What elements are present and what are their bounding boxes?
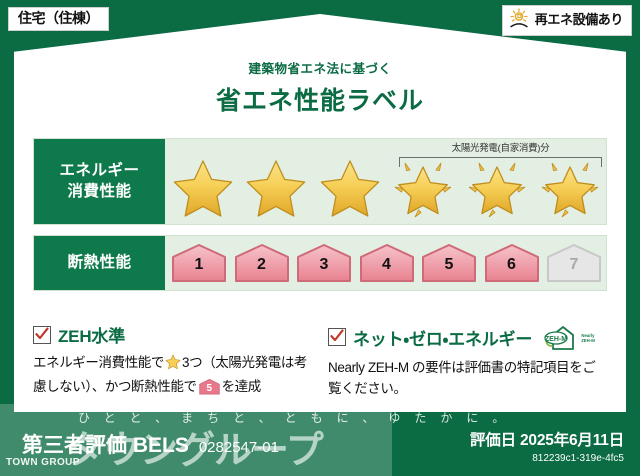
label-main-title: 省エネ性能ラベル <box>0 81 640 117</box>
star-rating-strip <box>171 157 602 221</box>
insulation-badge-number: 5 <box>199 381 220 396</box>
svg-text:ZEH-M: ZEH-M <box>545 336 567 343</box>
star-icon <box>171 157 235 221</box>
zeh-standard-note: ZEH水準 エネルギー消費性能で3つ（太陽光発電は考慮しない）、かつ断熱性能で5… <box>33 322 312 399</box>
bels-label: 第三者評価 BELS <box>22 429 189 459</box>
insulation-level-label: 1 <box>171 256 227 274</box>
energy-performance-label: 住宅（住棟） 再エネ設備あり 建築物省エネ法に基づく <box>0 0 640 476</box>
net-zero-energy-title: ネット・ゼロ・エネルギー <box>353 325 532 350</box>
insulation-level-5: 5 <box>421 243 477 283</box>
insulation-level-7: 7 <box>546 243 602 283</box>
zeh-body-part-c: を達成 <box>222 379 261 394</box>
zeh-body-part-star: 3つ（太陽光発電 <box>182 355 281 370</box>
insulation-level-label: 4 <box>359 256 415 274</box>
ratings-container: エネルギー 消費性能 太陽光発電(自家消費)分 <box>33 138 607 301</box>
insulation-levels-area: 1 2 3 4 5 <box>165 236 606 290</box>
notes-container: ZEH水準 エネルギー消費性能で3つ（太陽光発電は考慮しない）、かつ断熱性能で5… <box>33 322 607 399</box>
insulation-level-label: 5 <box>421 256 477 274</box>
energy-label-line1: エネルギー <box>59 161 139 182</box>
insulation-level-label: 6 <box>484 256 540 274</box>
zeh-standard-body: エネルギー消費性能で3つ（太陽光発電は考慮しない）、かつ断熱性能で5を達成 <box>33 353 312 397</box>
zeh-body-part-a: エネルギー消費性能で <box>33 355 164 370</box>
label-subtitle: 建築物省エネ法に基づく <box>0 58 640 77</box>
energy-label-line2: 消費性能 <box>67 182 131 203</box>
net-zero-energy-heading: ネット・ゼロ・エネルギー ZEH-M Nearly ZEH-M <box>328 322 607 352</box>
insulation-performance-row: 断熱性能 1 2 3 <box>33 235 607 291</box>
evaluation-info-block: 評価日 2025年6月11日 812239c1-319e-4fc5 <box>470 428 624 464</box>
evaluation-date: 評価日 2025年6月11日 <box>470 428 624 450</box>
dwelling-type-tag: 住宅（住棟） <box>8 7 109 31</box>
label-title-block: 建築物省エネ法に基づく 省エネ性能ラベル <box>0 58 640 117</box>
energy-performance-label-box: エネルギー 消費性能 <box>34 139 165 224</box>
checkmark-icon <box>328 328 346 346</box>
insulation-performance-label-box: 断熱性能 <box>34 236 165 290</box>
bels-number: 0282547-01 <box>199 439 279 456</box>
renewable-equipment-badge: 再エネ設備あり <box>502 5 632 36</box>
evaluation-id: 812239c1-319e-4fc5 <box>470 453 624 464</box>
net-zero-energy-note: ネット・ゼロ・エネルギー ZEH-M Nearly ZEH-M Nearly Z… <box>328 322 607 399</box>
bels-certification-block: 第三者評価 BELS 0282547-01 <box>22 429 279 459</box>
zeh-standard-title: ZEH水準 <box>58 322 125 347</box>
insulation-level-4: 4 <box>359 243 415 283</box>
sun-icon <box>508 8 530 33</box>
star-icon-solar <box>465 157 529 221</box>
insulation-level-3: 3 <box>296 243 352 283</box>
insulation-level-label: 7 <box>546 256 602 274</box>
star-icon-solar <box>391 157 455 221</box>
energy-stars-area: 太陽光発電(自家消費)分 <box>165 139 606 224</box>
insulation-level-label: 2 <box>234 256 290 274</box>
svg-text:ZEH-M: ZEH-M <box>581 338 595 343</box>
star-icon <box>318 157 382 221</box>
renewable-badge-label: 再エネ設備あり <box>535 13 623 27</box>
net-zero-energy-body: Nearly ZEH-M の要件は評価書の特記項目をご覧ください。 <box>328 358 607 399</box>
insulation-level-strip: 1 2 3 4 5 <box>171 243 602 283</box>
insulation-level-6: 6 <box>484 243 540 283</box>
star-icon-solar <box>538 157 602 221</box>
insulation-level-2: 2 <box>234 243 290 283</box>
insulation-badge-inline: 5 <box>199 378 220 395</box>
label-footer: 第三者評価 BELS 0282547-01 評価日 2025年6月11日 812… <box>0 412 640 476</box>
zeh-standard-heading: ZEH水準 <box>33 322 312 347</box>
zeh-m-logo: ZEH-M Nearly ZEH-M <box>543 322 601 352</box>
energy-performance-row: エネルギー 消費性能 太陽光発電(自家消費)分 <box>33 138 607 225</box>
star-icon <box>244 157 308 221</box>
solar-bracket-caption: 太陽光発電(自家消費)分 <box>399 144 602 154</box>
insulation-label-text: 断熱性能 <box>67 253 131 274</box>
star-icon-inline <box>165 354 181 377</box>
insulation-level-1: 1 <box>171 243 227 283</box>
checkmark-icon <box>33 326 51 344</box>
insulation-level-label: 3 <box>296 256 352 274</box>
